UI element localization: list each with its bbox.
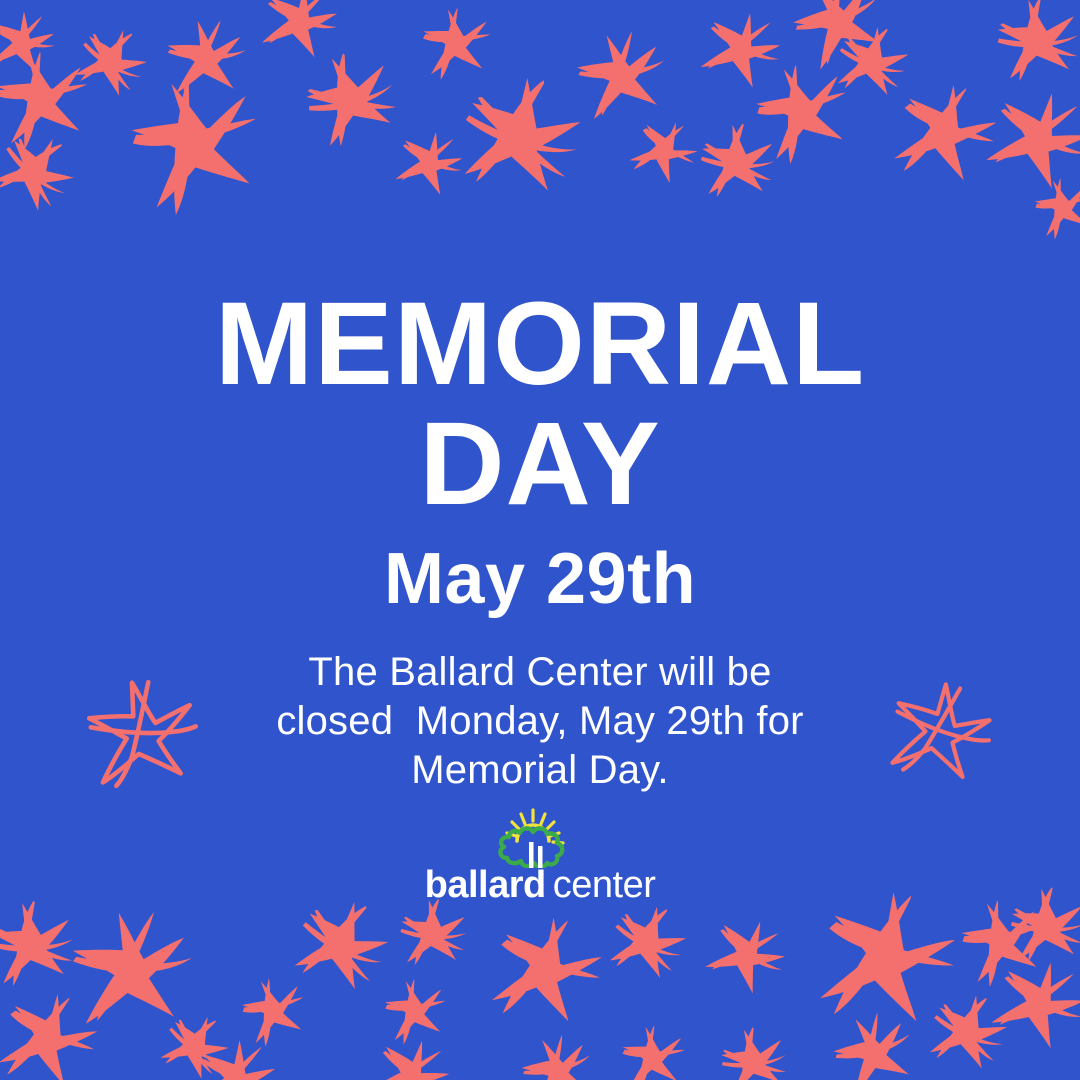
- closure-notice-text: The Ballard Center will be closed Monday…: [230, 648, 850, 794]
- page-title: MEMORIAL DAY: [0, 288, 1080, 520]
- closure-notice-line-1: The Ballard Center will be: [230, 648, 850, 697]
- ballard-center-logo: ballard center: [425, 808, 655, 904]
- closure-notice-line-3: Memorial Day.: [230, 746, 850, 795]
- event-date-subtitle: May 29th: [0, 543, 1080, 615]
- logo-word-center: center: [553, 866, 656, 904]
- headline-line-1: MEMORIAL: [0, 288, 1080, 400]
- sun-tree-icon: [487, 808, 593, 868]
- headline-line-2: DAY: [0, 408, 1080, 520]
- closure-notice-line-2: closed Monday, May 29th for: [230, 697, 850, 746]
- headline: MEMORIAL DAY: [0, 288, 1080, 520]
- sun-icon: [507, 810, 563, 843]
- poster-content: MEMORIAL DAY May 29th The Ballard Center…: [0, 0, 1080, 1080]
- logo-wordmark: ballard center: [425, 866, 656, 904]
- logo-word-ballard: ballard: [425, 866, 546, 904]
- memorial-day-poster: MEMORIAL DAY May 29th The Ballard Center…: [0, 0, 1080, 1080]
